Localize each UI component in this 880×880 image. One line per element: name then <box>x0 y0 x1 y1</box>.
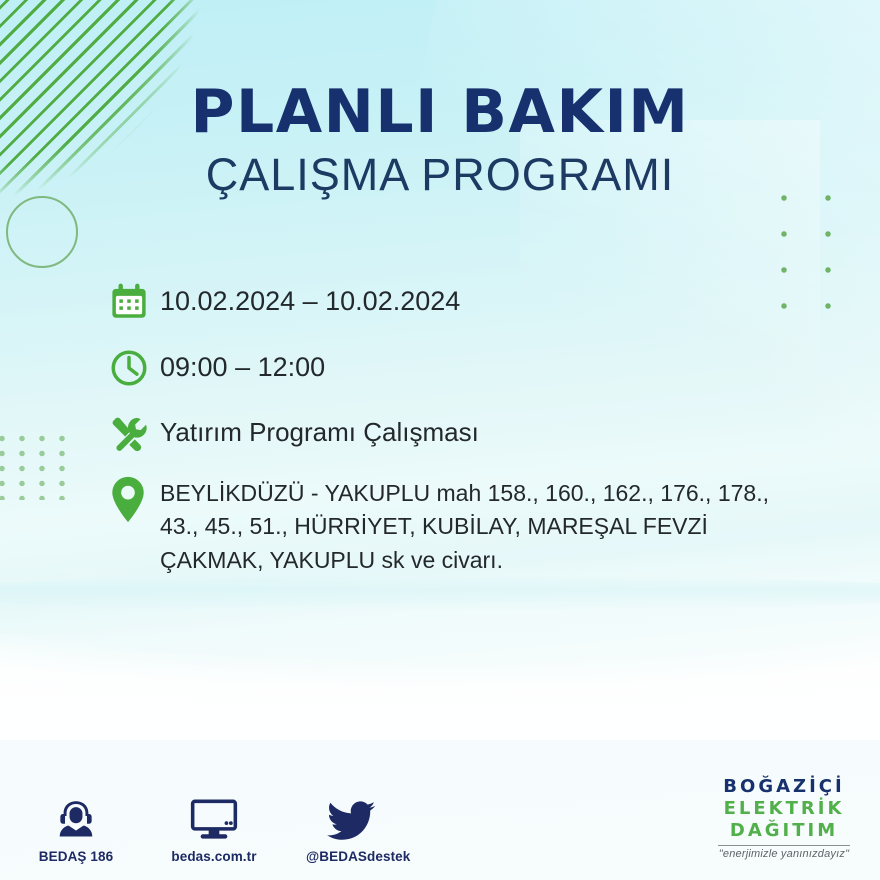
tools-icon <box>108 410 160 458</box>
info-list: 10.02.2024 – 10.02.2024 09:00 – 12:00 <box>108 278 808 577</box>
work-type-value: Yatırım Programı Çalışması <box>160 410 808 450</box>
page-subtitle: ÇALIŞMA PROGRAMI <box>0 152 880 197</box>
location-pin-icon <box>108 476 160 524</box>
brand-line-elektrik: ELEKTRİK <box>718 800 850 818</box>
background-wave-line <box>0 575 880 611</box>
affected-area-value: BEYLİKDÜZÜ - YAKUPLU mah 158., 160., 162… <box>160 476 808 577</box>
brand-line-bogazici: BOĞAZİÇİ <box>718 778 850 796</box>
poster-header: PLANLI BAKIM ÇALIŞMA PROGRAMI <box>0 82 880 197</box>
background-wave <box>0 560 880 740</box>
dot-grid-left-decoration <box>0 428 76 500</box>
call-center-agent-icon <box>30 794 122 842</box>
contact-website[interactable]: bedas.com.tr <box>168 794 260 864</box>
poster-footer: BEDAŞ 186 bedas.com.tr <box>30 778 850 864</box>
clock-icon <box>108 344 160 392</box>
contact-phone[interactable]: BEDAŞ 186 <box>30 794 122 864</box>
time-range-value: 09:00 – 12:00 <box>160 344 808 385</box>
twitter-bird-icon <box>306 794 398 842</box>
date-range-value: 10.02.2024 – 10.02.2024 <box>160 278 808 319</box>
brand-tagline: "enerjimizle yanınızdayız" <box>718 849 850 860</box>
brand-line-dagitim: DAĞITIM <box>718 822 850 840</box>
page-title: PLANLI BAKIM <box>0 82 880 142</box>
contact-phone-label: BEDAŞ 186 <box>30 849 122 864</box>
monitor-icon <box>168 794 260 842</box>
contact-list: BEDAŞ 186 bedas.com.tr <box>30 794 398 864</box>
circle-outline-decoration <box>6 196 78 268</box>
info-row-location: BEYLİKDÜZÜ - YAKUPLU mah 158., 160., 162… <box>108 476 808 577</box>
info-row-time: 09:00 – 12:00 <box>108 344 808 392</box>
brand-divider <box>718 845 850 846</box>
calendar-icon <box>108 278 160 326</box>
contact-twitter[interactable]: @BEDASdestek <box>306 794 398 864</box>
contact-website-label: bedas.com.tr <box>168 849 260 864</box>
info-row-date: 10.02.2024 – 10.02.2024 <box>108 278 808 326</box>
info-row-work-type: Yatırım Programı Çalışması <box>108 410 808 458</box>
bedas-logo: BOĞAZİÇİ ELEKTRİK DAĞITIM "enerjimizle y… <box>718 778 850 864</box>
planned-maintenance-poster: PLANLI BAKIM ÇALIŞMA PROGRAMI <box>0 0 880 880</box>
contact-twitter-label: @BEDASdestek <box>306 849 398 864</box>
